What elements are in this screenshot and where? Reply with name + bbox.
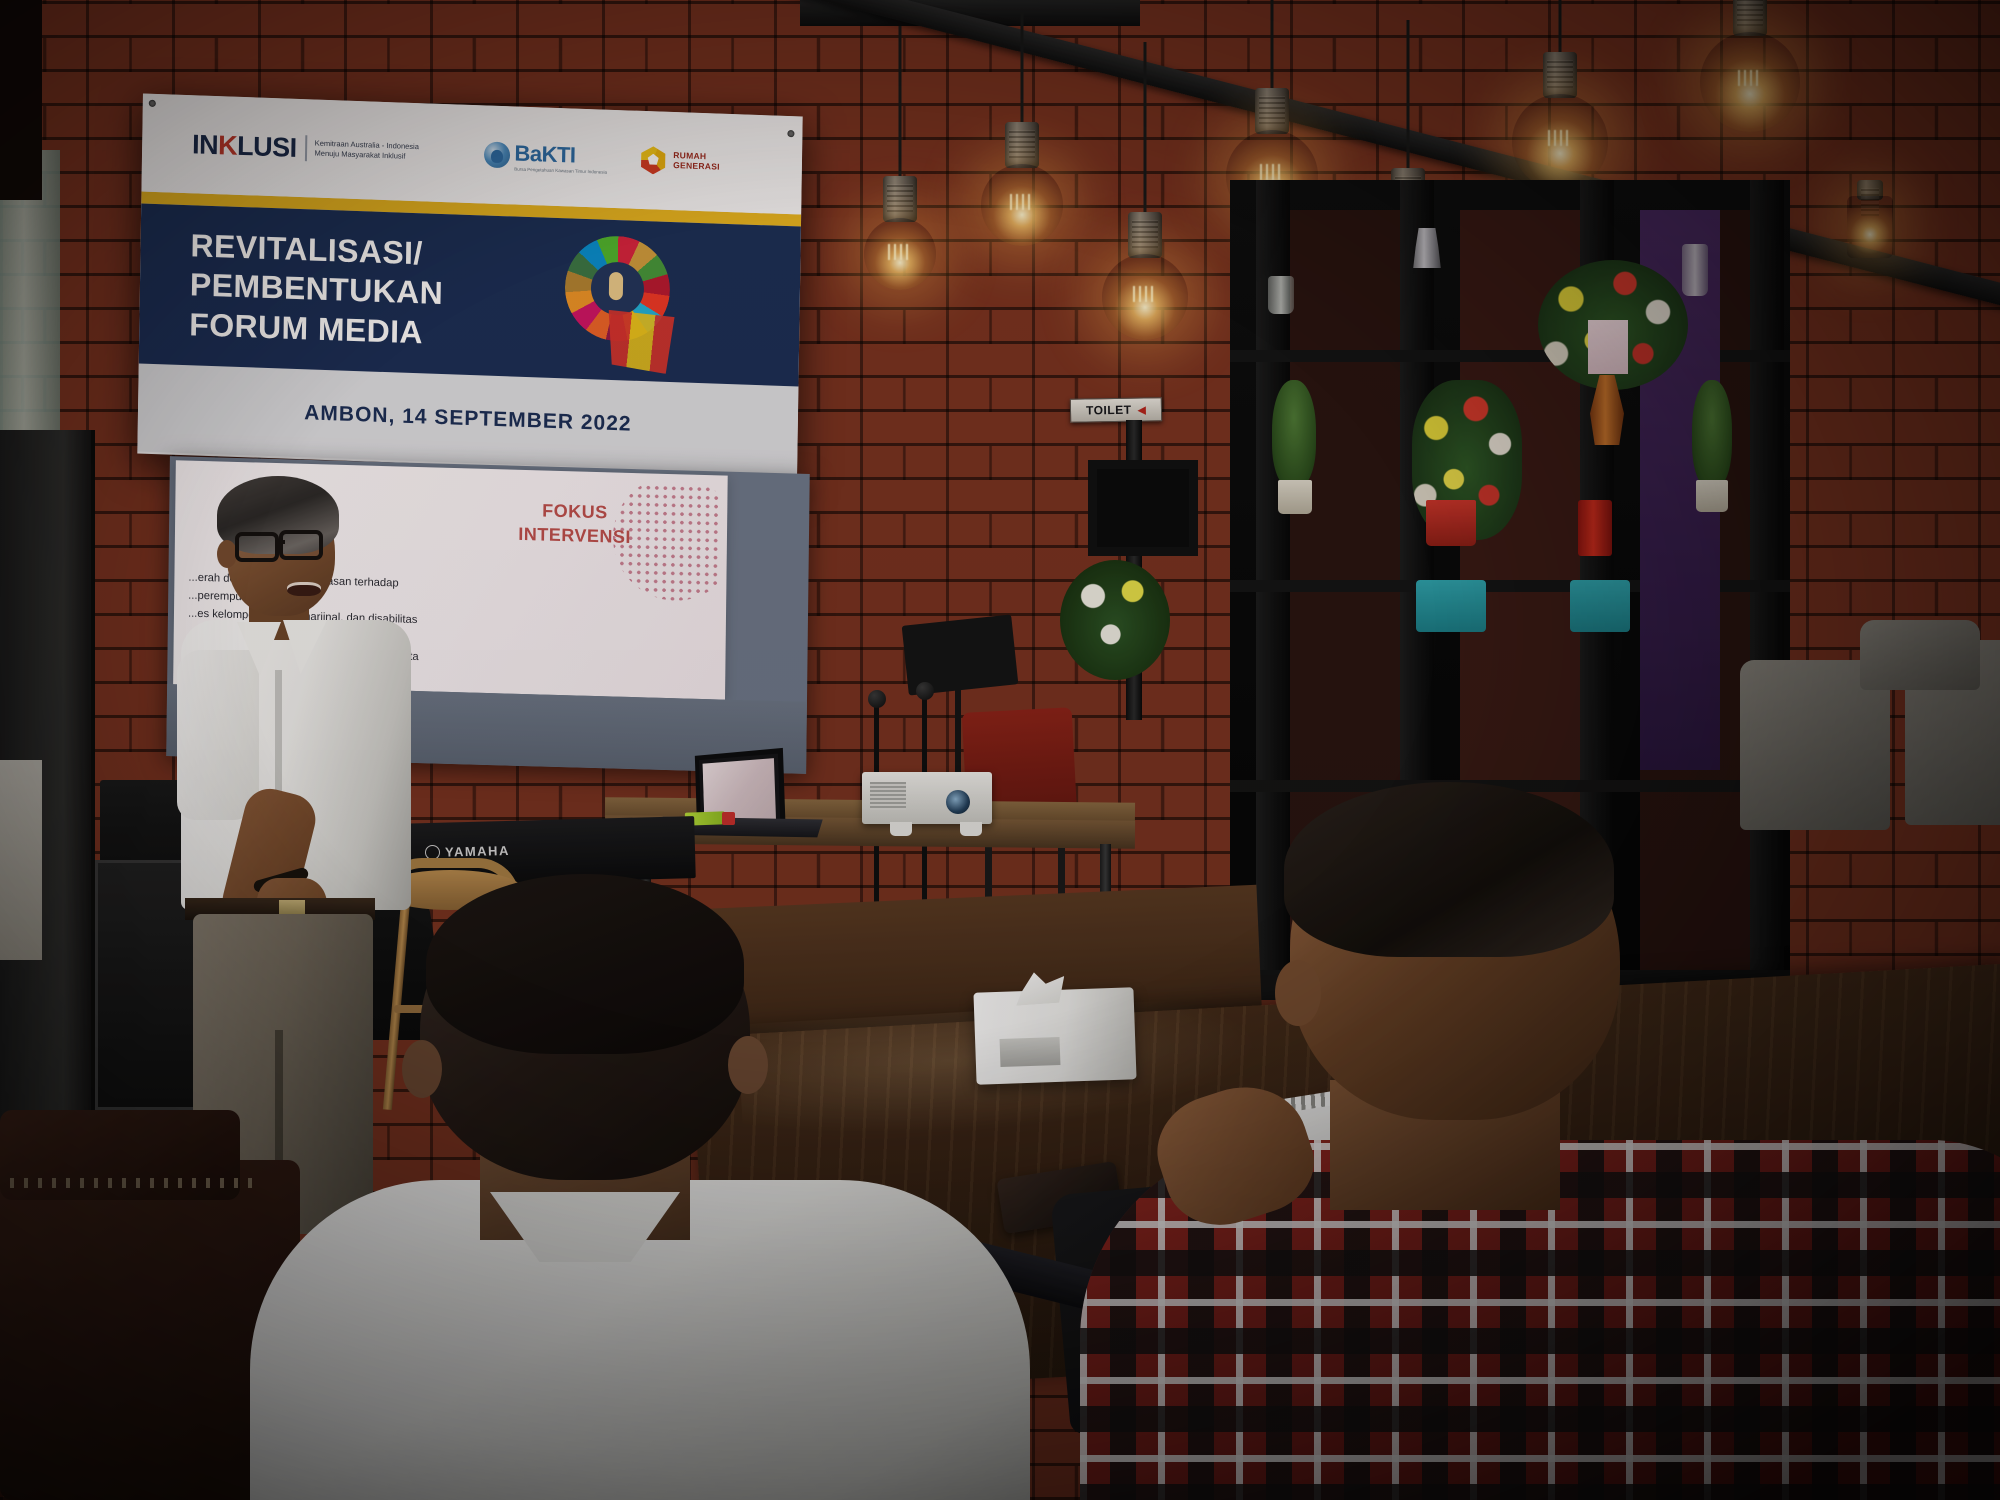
banner-title: REVITALISASI/ PEMBENTUKAN FORUM MEDIA: [189, 227, 591, 358]
flower-arrangement-bottom: [1060, 560, 1170, 680]
toilet-arrow-icon: ◀: [1137, 403, 1146, 416]
toilet-sign: TOILET ◀: [1070, 397, 1162, 423]
slide-heading-line-2: INTERVENSI: [518, 522, 631, 549]
presenter-glasses-left-lens: [235, 532, 279, 562]
banner-grommet-tr: [787, 130, 794, 137]
plant-pot-left: [1278, 480, 1312, 514]
audience-right-hair: [1284, 782, 1614, 957]
grey-chair-3: [1860, 620, 1980, 690]
banner-title-block: REVITALISASI/ PEMBENTUKAN FORUM MEDIA: [139, 203, 801, 386]
mic-head-1-icon: [868, 690, 886, 708]
projector-foot-2: [960, 822, 982, 836]
partner-logos: BaKTI Bursa Pengetahuan Kawasan Timur In…: [484, 139, 720, 178]
glass-jar: [1268, 276, 1294, 314]
projector-vent: [870, 782, 906, 810]
presenter-ear: [217, 540, 237, 568]
projector-lens-icon: [946, 790, 970, 814]
highlighter-cap: [722, 812, 735, 825]
presenter-sleeve: [177, 650, 259, 820]
greeting-card: [1588, 320, 1628, 374]
inklusi-wordmark: INKLUSI: [192, 129, 297, 164]
left-white-panel: [0, 760, 42, 960]
rumah-generasi-mark-icon: [639, 146, 667, 175]
banner-title-line-1: REVITALISASI/ PEMBENTUKAN: [190, 227, 591, 319]
microphone-icon: [609, 272, 623, 300]
teal-box-2: [1570, 580, 1630, 632]
photo-scene: INKLUSI Kemitraan Australia - Indonesia …: [0, 0, 2000, 1500]
tv-mount-plate: [1088, 460, 1198, 556]
logo-divider: [304, 135, 306, 161]
presenter-mouth: [287, 582, 321, 596]
potted-plant-right: [1692, 380, 1732, 488]
inklusi-tagline: Kemitraan Australia - Indonesia Menuju M…: [314, 138, 419, 162]
audience-left-ear-right: [728, 1036, 768, 1094]
red-flower-pot: [1426, 500, 1476, 546]
presenter-glasses-right-lens: [279, 530, 323, 560]
potted-plant-left: [1272, 380, 1316, 488]
bakti-logo: BaKTI Bursa Pengetahuan Kawasan Timur In…: [484, 139, 607, 174]
audience-right-ear: [1275, 960, 1321, 1026]
slide-heading: FOKUS INTERVENSI: [518, 498, 631, 550]
event-banner: INKLUSI Kemitraan Australia - Indonesia …: [137, 94, 802, 477]
audience-left-ear-left: [402, 1040, 442, 1098]
flag-graphic-icon: [608, 310, 675, 374]
slide-heading-line-1: FOKUS: [518, 498, 631, 525]
rumah-generasi-logo: RUMAH GENERASI: [639, 146, 720, 177]
mic-head-2-icon: [916, 682, 934, 700]
banner-date: AMBON, 14 SEPTEMBER 2022: [304, 401, 632, 436]
bakti-wordmark: BaKTI: [514, 140, 607, 169]
rumah-line-2: GENERASI: [673, 161, 720, 172]
banner-graphic: [564, 234, 691, 363]
red-canister: [1578, 500, 1612, 556]
banner-grommet-tl: [149, 100, 156, 107]
presenter-glasses-bridge: [277, 540, 285, 544]
plant-pot-right: [1696, 480, 1728, 512]
audience-left-hair: [426, 874, 744, 1054]
leather-chair-studs: [10, 1178, 260, 1188]
glass-bottle: [1682, 244, 1708, 296]
rumah-generasi-wordmark: RUMAH GENERASI: [673, 151, 720, 172]
audience-person-white-shirt: [250, 880, 1060, 1500]
teal-box-1: [1416, 580, 1486, 632]
toilet-sign-label: TOILET: [1086, 403, 1132, 418]
left-window-dark-panel: [0, 0, 42, 200]
inklusi-logo: INKLUSI Kemitraan Australia - Indonesia …: [192, 129, 419, 168]
audience-person-plaid-shirt: [1120, 790, 2000, 1500]
bakti-mark-icon: [484, 141, 510, 168]
projector-foot: [890, 822, 912, 836]
